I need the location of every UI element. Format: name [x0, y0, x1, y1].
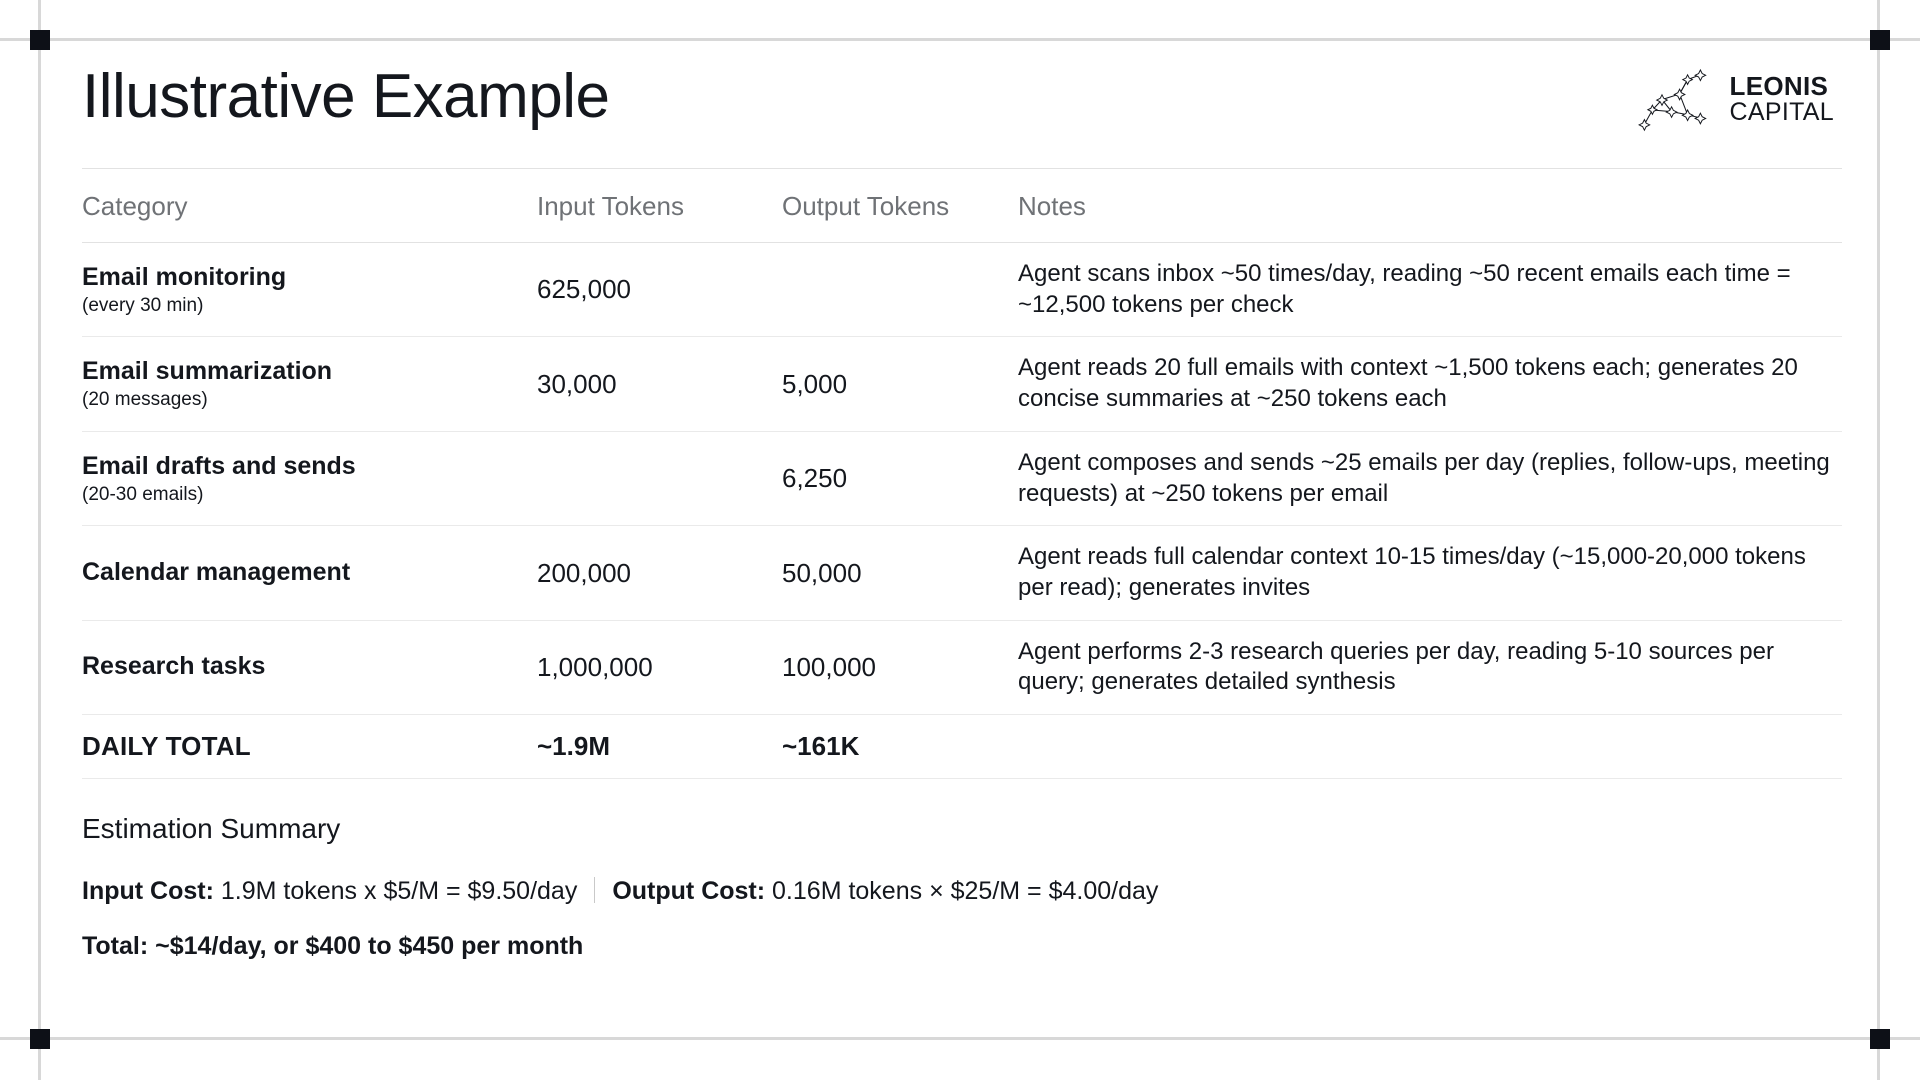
crop-guide-top: [0, 38, 1920, 41]
category-subtext: (20-30 emails): [82, 483, 537, 507]
slide-content: Illustrative Example: [82, 56, 1842, 961]
token-usage-table: Category Input Tokens Output Tokens Note…: [82, 168, 1842, 779]
cell-total-input: ~1.9M: [537, 715, 782, 779]
cell-input-tokens: 200,000: [537, 526, 782, 620]
cell-notes: Agent scans inbox ~50 times/day, reading…: [1018, 243, 1842, 337]
cell-category: Email monitoring (every 30 min): [82, 243, 537, 337]
estimation-summary: Estimation Summary Input Cost: 1.9M toke…: [82, 813, 1842, 961]
registration-mark-bottom-left: [30, 1029, 50, 1049]
column-header-output: Output Tokens: [782, 169, 1018, 243]
table-row: Email drafts and sends (20-30 emails) 6,…: [82, 431, 1842, 525]
cell-output-tokens: 5,000: [782, 337, 1018, 431]
category-name: Email monitoring: [82, 262, 537, 292]
cell-input-tokens: 1,000,000: [537, 620, 782, 714]
table-body: Email monitoring (every 30 min) 625,000 …: [82, 243, 1842, 779]
column-header-input: Input Tokens: [537, 169, 782, 243]
cell-output-tokens: 6,250: [782, 431, 1018, 525]
brand-subname: CAPITAL: [1730, 100, 1834, 125]
category-name: Email drafts and sends: [82, 451, 537, 481]
cell-category: Research tasks: [82, 620, 537, 714]
crop-guide-right: [1877, 0, 1880, 1080]
cell-total-output: ~161K: [782, 715, 1018, 779]
registration-mark-top-right: [1870, 30, 1890, 50]
column-header-category: Category: [82, 169, 537, 243]
brand-name: LEONIS: [1730, 73, 1834, 99]
category-name: Calendar management: [82, 557, 537, 587]
slide-header: Illustrative Example: [82, 56, 1842, 168]
summary-title: Estimation Summary: [82, 813, 1842, 845]
category-name: Research tasks: [82, 651, 537, 681]
constellation-icon: [1630, 62, 1718, 134]
cell-output-tokens: 50,000: [782, 526, 1018, 620]
cell-notes: Agent reads 20 full emails with context …: [1018, 337, 1842, 431]
input-cost-value: 1.9M tokens x $5/M = $9.50/day: [221, 877, 577, 906]
input-cost-label: Input Cost:: [82, 877, 214, 906]
brand-logo: LEONIS CAPITAL: [1630, 62, 1834, 134]
table-header-row: Category Input Tokens Output Tokens Note…: [82, 169, 1842, 243]
summary-total-line: Total: ~$14/day, or $400 to $450 per mon…: [82, 932, 1842, 961]
cell-total-notes: [1018, 715, 1842, 779]
total-label: DAILY TOTAL: [82, 731, 537, 762]
brand-wordmark: LEONIS CAPITAL: [1730, 71, 1834, 125]
cell-category: Email drafts and sends (20-30 emails): [82, 431, 537, 525]
output-cost-label: Output Cost:: [612, 877, 765, 906]
table-row: Email monitoring (every 30 min) 625,000 …: [82, 243, 1842, 337]
crop-guide-bottom: [0, 1037, 1920, 1040]
cell-notes: Agent performs 2-3 research queries per …: [1018, 620, 1842, 714]
cell-category: Calendar management: [82, 526, 537, 620]
output-cost-value: 0.16M tokens × $25/M = $4.00/day: [772, 877, 1158, 906]
cell-input-tokens: 625,000: [537, 243, 782, 337]
cell-total-label: DAILY TOTAL: [82, 715, 537, 779]
registration-mark-top-left: [30, 30, 50, 50]
cell-input-tokens: 30,000: [537, 337, 782, 431]
table-row: Research tasks 1,000,000 100,000 Agent p…: [82, 620, 1842, 714]
table-row: Calendar management 200,000 50,000 Agent…: [82, 526, 1842, 620]
registration-mark-bottom-right: [1870, 1029, 1890, 1049]
cell-output-tokens: 100,000: [782, 620, 1018, 714]
cell-notes: Agent reads full calendar context 10-15 …: [1018, 526, 1842, 620]
slide-canvas: Illustrative Example: [0, 0, 1920, 1080]
cost-separator: [594, 877, 595, 903]
cell-notes: Agent composes and sends ~25 emails per …: [1018, 431, 1842, 525]
column-header-notes: Notes: [1018, 169, 1842, 243]
crop-guide-left: [38, 0, 41, 1080]
category-subtext: (every 30 min): [82, 294, 537, 318]
page-title: Illustrative Example: [82, 56, 1842, 129]
cell-output-tokens: [782, 243, 1018, 337]
cell-input-tokens: [537, 431, 782, 525]
category-subtext: (20 messages): [82, 388, 537, 412]
cell-category: Email summarization (20 messages): [82, 337, 537, 431]
table-row: Email summarization (20 messages) 30,000…: [82, 337, 1842, 431]
summary-cost-line: Input Cost: 1.9M tokens x $5/M = $9.50/d…: [82, 873, 1842, 906]
category-name: Email summarization: [82, 356, 537, 386]
table-header: Category Input Tokens Output Tokens Note…: [82, 169, 1842, 243]
table-total-row: DAILY TOTAL ~1.9M ~161K: [82, 715, 1842, 779]
